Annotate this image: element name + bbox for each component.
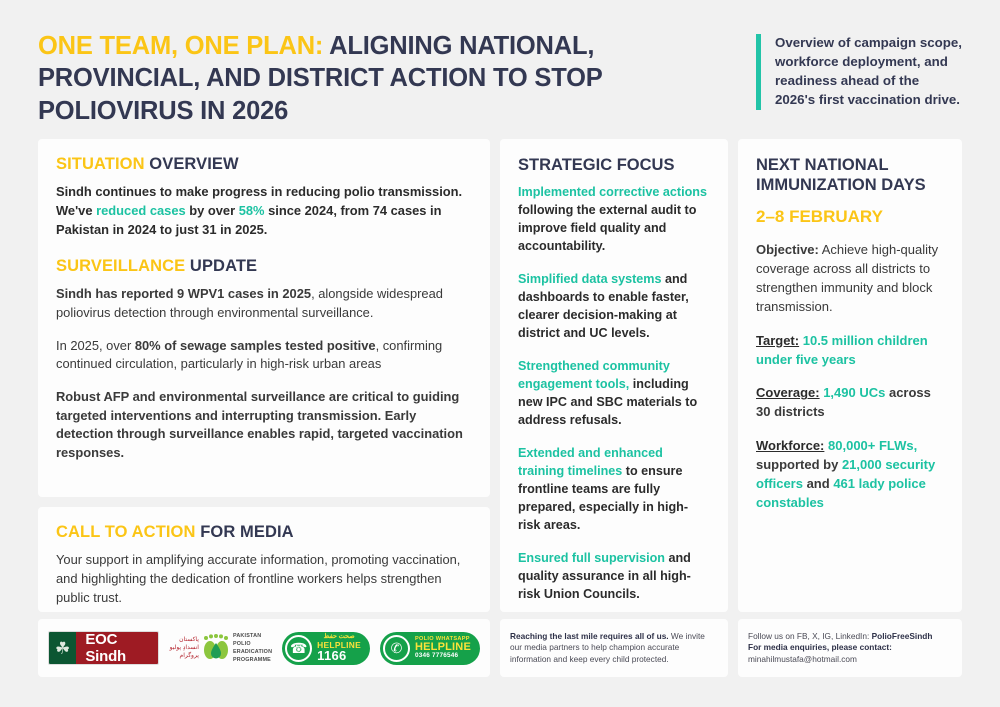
text-run-2: 80,000+ FLWs, [828, 438, 917, 453]
strategic-focus-item-4: Extended and enhanced training timelines… [518, 444, 710, 534]
strategic-focus-heading: STRATEGIC FOCUS [518, 155, 710, 175]
surveillance-paragraph-2: In 2025, over 80% of sewage samples test… [56, 337, 472, 374]
cta-heading: CALL TO ACTION FOR MEDIA [56, 523, 472, 542]
strategic-focus-items: Implemented corrective actions following… [518, 183, 710, 603]
text-run-2: by over [186, 203, 239, 218]
text-run-0: Robust AFP and environmental surveillanc… [56, 389, 463, 460]
footer: ☘ EOC Sindh پاکستان انسدادِ پولیو پروگرا… [0, 612, 1000, 677]
text-run-0: Simplified data systems [518, 272, 661, 286]
nid-heading: NEXT NATIONAL IMMUNIZATION DAYS [756, 155, 944, 195]
header: ONE TEAM, ONE PLAN: ALIGNING NATIONAL, P… [0, 0, 1000, 127]
text-run-3: 58% [239, 203, 265, 218]
surveillance-heading-highlight: SURVEILLANCE [56, 257, 185, 275]
footprints-icon [202, 633, 230, 663]
cta-heading-rest: FOR MEDIA [196, 523, 294, 541]
whatsapp-icon: ✆ [383, 635, 410, 662]
nid-stat-2: Coverage: 1,490 UCs across 30 districts [756, 384, 944, 422]
text-run-5: and [803, 476, 833, 491]
helpline-number: 1166 [317, 649, 361, 662]
situation-heading: SITUATION OVERVIEW [56, 155, 472, 174]
surveillance-heading-rest: UPDATE [185, 257, 257, 275]
surveillance-paragraph-1: Sindh has reported 9 WPV1 cases in 2025,… [56, 285, 472, 322]
text-run-0: In 2025, over [56, 338, 135, 353]
helpline-badge-text: صحت حفظ HELPLINE 1166 [317, 634, 361, 662]
media-enquiries-label: For media enquiries, please contact: [748, 642, 892, 652]
text-run-0: Implemented corrective actions [518, 185, 707, 199]
ppep-line-3: ERADICATION [233, 648, 272, 656]
nid-objective: Objective: Achieve high-quality coverage… [756, 241, 944, 316]
footer-contact: Follow us on FB, X, IG, LinkedIn: PolioF… [738, 619, 962, 677]
ppep-english-text: PAKISTAN POLIO ERADICATION PROGRAMME [233, 632, 272, 664]
situation-paragraph: Sindh continues to make progress in redu… [56, 183, 472, 239]
eoc-sindh-logo: ☘ EOC Sindh [48, 631, 159, 665]
whatsapp-helpline-badge: ✆ POLIO WHATSAPP HELPLINE 0346 7776546 [380, 632, 480, 665]
text-run-0: Sindh has reported 9 WPV1 cases in 2025 [56, 286, 311, 301]
right-column: NEXT NATIONAL IMMUNIZATION DAYS 2–8 FEBR… [738, 139, 962, 612]
text-run-0: Objective: [756, 242, 819, 257]
whatsapp-badge-text: POLIO WHATSAPP HELPLINE 0346 7776546 [415, 637, 471, 660]
surveillance-paragraphs: Sindh has reported 9 WPV1 cases in 2025,… [56, 285, 472, 463]
text-run-0: Target: [756, 333, 799, 348]
nid-stats: Target: 10.5 million children under five… [756, 332, 944, 513]
contact-email[interactable]: minahilmustafa@hotmail.com [748, 654, 857, 664]
page-title-highlight: ONE TEAM, ONE PLAN: [38, 32, 323, 60]
footer-logos: ☘ EOC Sindh پاکستان انسدادِ پولیو پروگرا… [38, 619, 490, 677]
situation-heading-highlight: SITUATION [56, 155, 145, 173]
text-run-2: 1,490 UCs [823, 385, 885, 400]
social-handle[interactable]: PolioFreeSindh [872, 631, 933, 641]
surveillance-heading: SURVEILLANCE UPDATE [56, 257, 472, 276]
nid-stat-3: Workforce: 80,000+ FLWs, supported by 21… [756, 437, 944, 512]
content-columns: SITUATION OVERVIEW Sindh continues to ma… [0, 127, 1000, 612]
surveillance-paragraph-3: Robust AFP and environmental surveillanc… [56, 388, 472, 463]
nid-stat-1: Target: 10.5 million children under five… [756, 332, 944, 370]
call-to-action-card: CALL TO ACTION FOR MEDIA Your support in… [38, 507, 490, 612]
situation-heading-rest: OVERVIEW [145, 155, 239, 173]
government-crest-icon: ☘ [49, 632, 76, 664]
header-overview-note: Overview of campaign scope, workforce de… [756, 34, 962, 110]
ppep-urdu-text: پاکستان انسدادِ پولیو پروگرام [169, 636, 199, 660]
strategic-focus-card: STRATEGIC FOCUS Implemented corrective a… [500, 139, 728, 612]
ppep-line-1: PAKISTAN [233, 632, 272, 640]
pakistan-polio-eradication-logo: پاکستان انسدادِ پولیو پروگرام PAKISTA [169, 630, 272, 666]
situation-surveillance-card: SITUATION OVERVIEW Sindh continues to ma… [38, 139, 490, 497]
strategic-focus-item-1: Implemented corrective actions following… [518, 183, 710, 255]
page-title: ONE TEAM, ONE PLAN: ALIGNING NATIONAL, P… [38, 30, 738, 127]
text-run-1: 80% of sewage samples tested positive [135, 338, 376, 353]
nid-dates: 2–8 FEBRUARY [756, 207, 944, 227]
ppep-line-2: POLIO [233, 640, 272, 648]
infographic-page: ONE TEAM, ONE PLAN: ALIGNING NATIONAL, P… [0, 0, 1000, 707]
text-run-0: Workforce: [756, 438, 824, 453]
text-run-1: following the external audit to improve … [518, 203, 696, 253]
strategic-focus-item-5: Ensured full supervision and quality ass… [518, 549, 710, 603]
cta-heading-highlight: CALL TO ACTION [56, 523, 196, 541]
ppep-line-4: PROGRAMME [233, 656, 272, 664]
whatsapp-number: 0346 7776546 [415, 653, 471, 659]
media-note-headline: Reaching the last mile requires all of u… [510, 631, 669, 641]
left-column: SITUATION OVERVIEW Sindh continues to ma… [38, 139, 490, 612]
text-run-3: supported by [756, 457, 842, 472]
helpline-badge: ☎ صحت حفظ HELPLINE 1166 [282, 632, 370, 665]
phone-icon: ☎ [285, 635, 312, 662]
strategic-focus-item-3: Strengthened community engagement tools,… [518, 357, 710, 429]
cta-text: Your support in amplifying accurate info… [56, 551, 472, 607]
eoc-sindh-logo-text: EOC Sindh [76, 632, 158, 664]
text-run-1: reduced cases [96, 203, 186, 218]
strategic-focus-item-2: Simplified data systems and dashboards t… [518, 270, 710, 342]
footer-media-note: Reaching the last mile requires all of u… [500, 619, 728, 677]
middle-column: STRATEGIC FOCUS Implemented corrective a… [500, 139, 728, 612]
text-run-0: Coverage: [756, 385, 820, 400]
text-run-0: Ensured full supervision [518, 551, 665, 565]
follow-us-label: Follow us on FB, X, IG, LinkedIn: [748, 631, 872, 641]
nid-card: NEXT NATIONAL IMMUNIZATION DAYS 2–8 FEBR… [738, 139, 962, 612]
